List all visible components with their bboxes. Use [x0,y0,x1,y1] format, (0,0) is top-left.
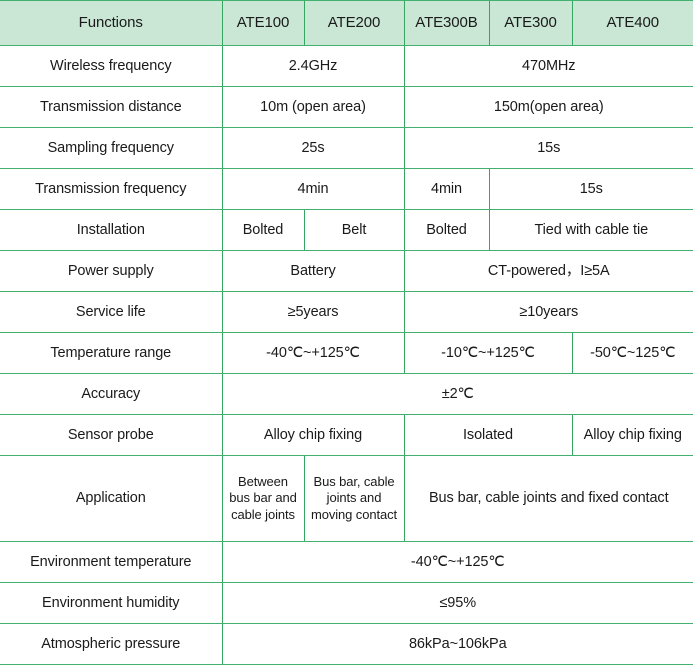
table-row: Service life≥5years≥10years [0,292,693,333]
row-value: 15s [489,169,693,210]
row-value: ≥5years [222,292,404,333]
row-value: -10℃~+125℃ [404,333,572,374]
header-model-ate300b: ATE300B [404,1,489,46]
row-value: 25s [222,128,404,169]
table-row: ApplicationBetween bus bar and cable joi… [0,456,693,542]
row-value: Tied with cable tie [489,210,693,251]
row-value: Alloy chip fixing [572,415,693,456]
header-model-ate400: ATE400 [572,1,693,46]
row-value: Between bus bar and cable joints [222,456,304,542]
row-value: 86kPa~106kPa [222,624,693,665]
row-value: Alloy chip fixing [222,415,404,456]
table-row: Transmission distance10m (open area)150m… [0,87,693,128]
row-label: Transmission frequency [0,169,222,210]
row-label: Power supply [0,251,222,292]
table-header: Functions ATE100 ATE200 ATE300B ATE300 A… [0,1,693,46]
row-value: 4min [404,169,489,210]
row-label: Accuracy [0,374,222,415]
row-value: Belt [304,210,404,251]
row-value: ±2℃ [222,374,693,415]
row-label: Transmission distance [0,87,222,128]
row-value: Battery [222,251,404,292]
row-value: 4min [222,169,404,210]
row-value: 2.4GHz [222,46,404,87]
row-label: Wireless frequency [0,46,222,87]
row-label: Application [0,456,222,542]
row-value: -40℃~+125℃ [222,542,693,583]
product-specification-table: Functions ATE100 ATE200 ATE300B ATE300 A… [0,0,693,665]
table-row: Environment temperature-40℃~+125℃ [0,542,693,583]
table-row: Sampling frequency25s15s [0,128,693,169]
table-row: Temperature range-40℃~+125℃-10℃~+125℃-50… [0,333,693,374]
row-value: 470MHz [404,46,693,87]
row-value: 15s [404,128,693,169]
table-row: InstallationBoltedBeltBoltedTied with ca… [0,210,693,251]
row-label: Temperature range [0,333,222,374]
row-label: Service life [0,292,222,333]
table-row: Sensor probeAlloy chip fixingIsolatedAll… [0,415,693,456]
row-label: Installation [0,210,222,251]
header-model-ate100: ATE100 [222,1,304,46]
row-value: Bolted [404,210,489,251]
table-row: Wireless frequency2.4GHz470MHz [0,46,693,87]
row-value: Bus bar, cable joints and moving contact [304,456,404,542]
table-row: Transmission frequency4min4min15s [0,169,693,210]
row-value: 150m(open area) [404,87,693,128]
table-row: Power supplyBatteryCT-powered，I≥5A [0,251,693,292]
table-row: Accuracy±2℃ [0,374,693,415]
row-value: Bus bar, cable joints and fixed contact [404,456,693,542]
row-value: Bolted [222,210,304,251]
row-value: Isolated [404,415,572,456]
table-row: Environment humidity≤95% [0,583,693,624]
row-value: -40℃~+125℃ [222,333,404,374]
header-model-ate300: ATE300 [489,1,572,46]
row-label: Atmospheric pressure [0,624,222,665]
header-model-ate200: ATE200 [304,1,404,46]
row-label: Sampling frequency [0,128,222,169]
header-row: Functions ATE100 ATE200 ATE300B ATE300 A… [0,1,693,46]
row-value: -50℃~125℃ [572,333,693,374]
row-label: Environment humidity [0,583,222,624]
row-label: Environment temperature [0,542,222,583]
table-row: Atmospheric pressure86kPa~106kPa [0,624,693,665]
header-functions: Functions [0,1,222,46]
row-label: Sensor probe [0,415,222,456]
table-body: Wireless frequency2.4GHz470MHzTransmissi… [0,46,693,665]
row-value: ≥10years [404,292,693,333]
row-value: ≤95% [222,583,693,624]
row-value: 10m (open area) [222,87,404,128]
row-value: CT-powered，I≥5A [404,251,693,292]
